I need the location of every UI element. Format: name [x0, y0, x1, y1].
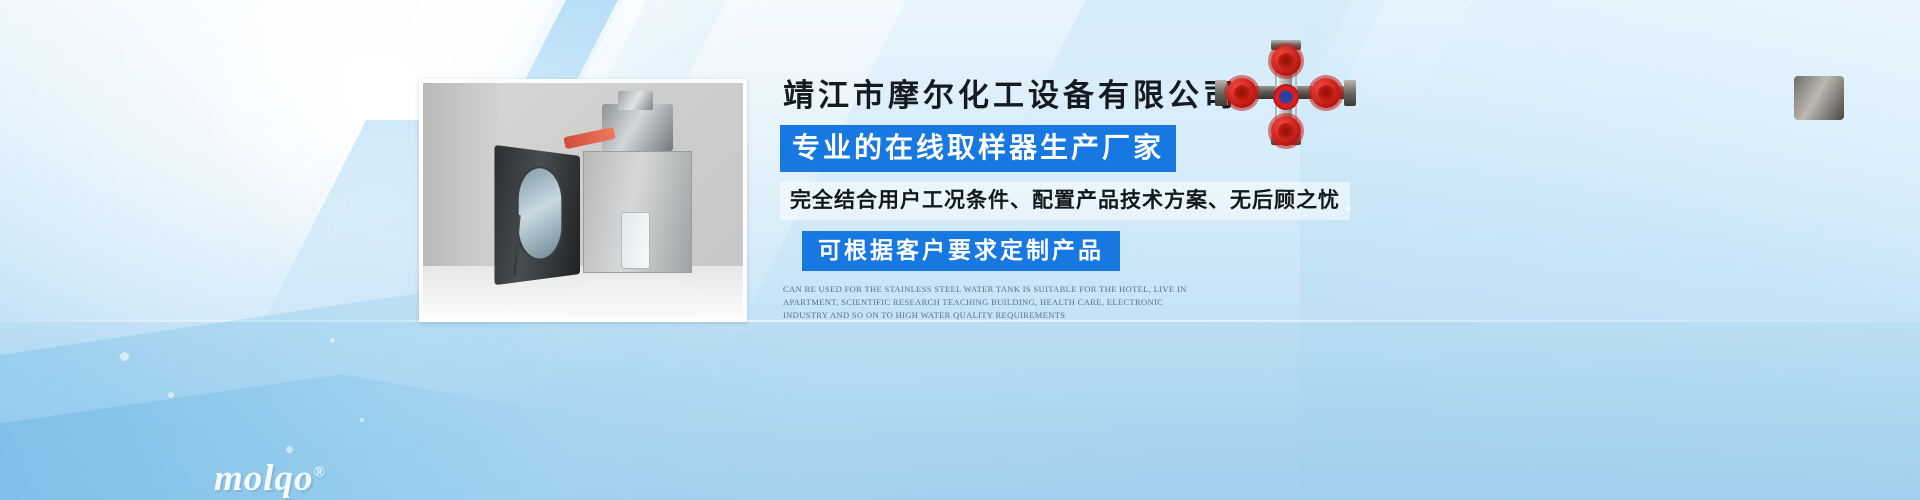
- equipment-lever-valve: [1760, 28, 1880, 173]
- red-handwheel-icon: [1311, 78, 1341, 108]
- cabinet-valve-cap: [618, 91, 653, 110]
- equipment-left-sampler: [0, 0, 118, 174]
- registered-mark-icon: ®: [314, 465, 326, 481]
- valve-body: [1794, 76, 1844, 120]
- flex-tube: [0, 112, 54, 180]
- bubble-icon: [360, 418, 364, 422]
- product-photo-image: [423, 83, 743, 318]
- red-handwheel-icon: [1271, 116, 1301, 146]
- product-photo: [419, 79, 747, 322]
- watermark-logo-text: molqo: [214, 458, 314, 499]
- english-caption: CAN BE USED FOR THE STAINLESS STEEL WATE…: [783, 283, 1191, 322]
- bubble-icon: [330, 338, 335, 343]
- cabinet-door: [494, 145, 580, 285]
- watermark-logo: molqo®: [214, 460, 326, 497]
- photo-pedestal: [570, 278, 698, 318]
- bubble-icon: [120, 352, 129, 361]
- flange: [1215, 80, 1227, 106]
- bubble-icon: [168, 392, 174, 398]
- flange: [1762, 72, 1796, 114]
- bubble-icon: [286, 446, 293, 453]
- red-handwheel-icon: [1227, 78, 1257, 108]
- promotional-banner: 靖江市摩尔化工设备有限公司 专业的在线取样器生产厂家 完全结合用户工况条件、配置…: [0, 0, 1920, 500]
- flange: [1344, 80, 1356, 106]
- sample-bottle: [621, 212, 650, 268]
- headline-highlight: 专业的在线取样器生产厂家: [780, 125, 1176, 172]
- certification-seal-icon: [1273, 84, 1299, 110]
- equipment-cross-valve: [1213, 40, 1358, 145]
- flex-tube: [0, 0, 86, 118]
- sub-headline: 完全结合用户工况条件、配置产品技术方案、无后顾之忧: [780, 182, 1350, 220]
- tagline-highlight: 可根据客户要求定制产品: [802, 231, 1120, 271]
- red-handwheel-icon: [1271, 46, 1301, 76]
- door-window: [516, 164, 564, 263]
